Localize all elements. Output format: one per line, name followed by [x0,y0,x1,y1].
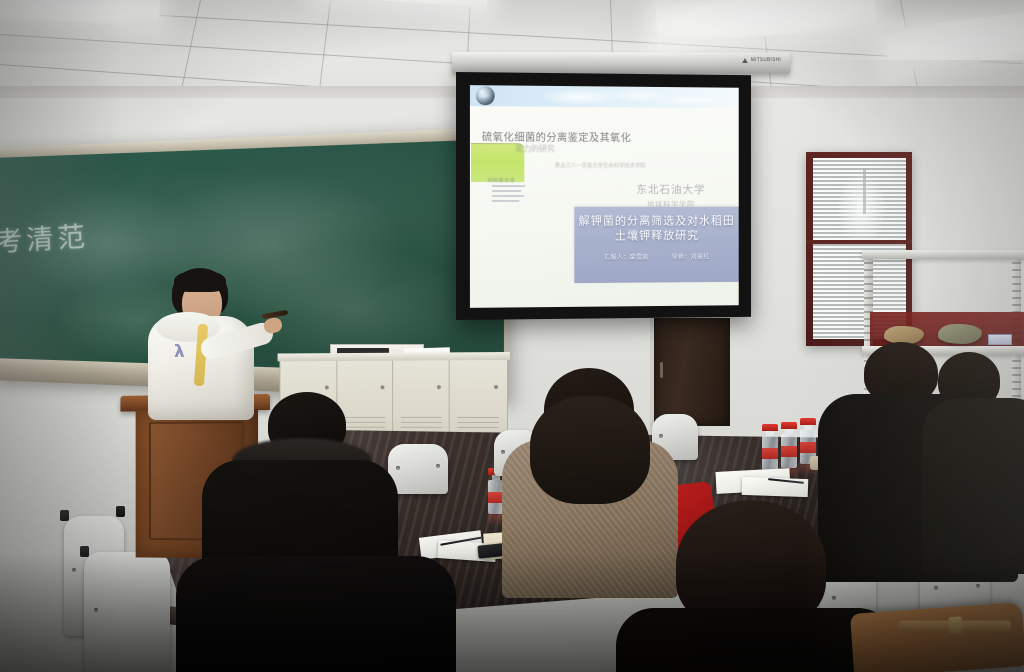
slide-title-overlay: 解钾菌的分离筛选及对水稻田 土壤钾释放研究 汇报人：栾雪凯 导师：刘丽红 [574,207,738,283]
slide-institution-line: 黑龙江八一农垦大学生命科学技术学院 [555,161,719,169]
overlay-presenter-label: 汇报人：栾雪凯 [604,252,649,261]
presenter-fringe [174,270,226,292]
classroom-presentation-scene: 考清范 MITSUBISHI 硫氧化细菌的分离鉴定及其氧化 能力的研究 黑龙江八… [0,0,1024,672]
slide-background-subtitle: 能力的研究 [515,143,671,155]
overlay-title-line-1: 解钾菌的分离筛选及对水稻田 [578,214,734,229]
audience-member-foreground-left [176,556,456,672]
chair-empty-2[interactable] [388,444,448,494]
slide-sidebar-heading: 材料和方法 [488,177,515,184]
presenter-hoodie-graphic: λ [174,342,204,368]
globe-icon [476,86,495,105]
wall-shadow-right [794,60,1024,672]
projector-brand-label: MITSUBISHI [751,57,781,63]
world-map-graphic [470,85,739,108]
projection-screen: 硫氧化细菌的分离鉴定及其氧化 能力的研究 黑龙江八一农垦大学生命科学技术学院 材… [456,72,751,320]
slide-banner [470,85,739,108]
slide-university-block: 东北石油大学 地球科学学院 [618,181,723,210]
presentation-slide: 硫氧化细菌的分离鉴定及其氧化 能力的研究 黑龙江八一农垦大学生命科学技术学院 材… [470,85,739,308]
overlay-credits: 汇报人：栾雪凯 导师：刘丽红 [604,252,710,261]
overlay-title-line-2: 土壤钾释放研究 [615,228,699,243]
audience-hair [530,396,650,504]
projection-screen-housing: MITSUBISHI [452,52,790,74]
slide-university-name: 东北石油大学 [618,181,723,197]
overlay-advisor-label: 导师：刘丽红 [672,252,710,261]
wall-shadow-left [0,0,120,672]
mitsubishi-logo-icon: MITSUBISHI [743,57,781,63]
water-bottle-3[interactable] [762,424,778,470]
slide-bullet-list [492,185,531,205]
